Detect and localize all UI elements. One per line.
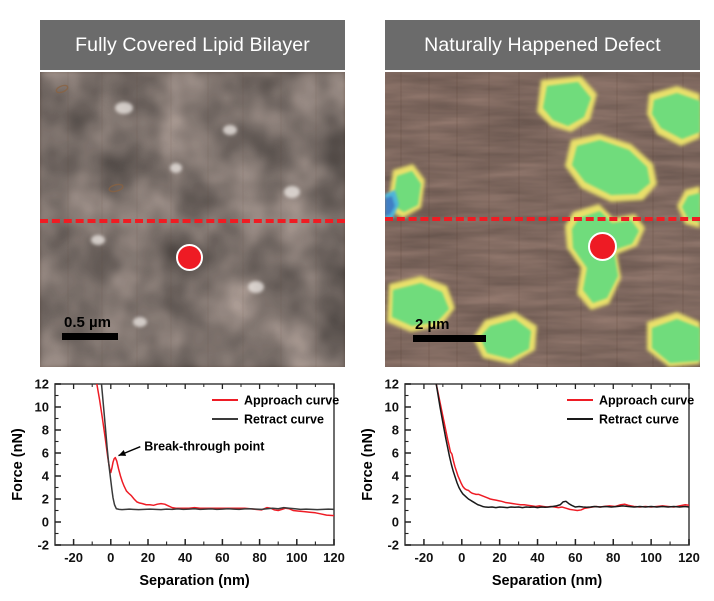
x-tick-label: 40 <box>178 550 192 565</box>
y-tick-label: 2 <box>392 492 399 507</box>
x-axis-label: Separation (nm) <box>492 573 603 589</box>
chart-right-svg: -20020406080100120-2024681012Separation … <box>358 372 708 597</box>
legend-entry-label: Approach curve <box>599 394 694 408</box>
scale-bar-left: 0.5 µm <box>62 315 118 340</box>
legend-entry-label: Retract curve <box>599 413 679 427</box>
y-tick-label: 12 <box>385 377 399 392</box>
y-axis-label: Force (nN) <box>10 428 26 501</box>
x-tick-label: -20 <box>64 550 83 565</box>
x-axis-label: Separation (nm) <box>139 573 250 589</box>
annotation-label: Break-through point <box>144 440 265 454</box>
y-tick-label: 6 <box>42 446 49 461</box>
y-tick-label: 0 <box>42 515 49 530</box>
scale-bar-label-left: 0.5 µm <box>62 315 111 331</box>
x-tick-label: 100 <box>286 550 308 565</box>
figure-root: Fully Covered Lipid Bilayer Naturally Ha… <box>0 0 714 601</box>
cross-section-line-right <box>385 217 700 221</box>
y-axis-label: Force (nN) <box>360 428 376 501</box>
legend-entry-label: Approach curve <box>244 394 339 408</box>
y-tick-label: 12 <box>35 377 49 392</box>
afm-image-natural-defect: 2 µm <box>385 72 700 367</box>
x-tick-label: 120 <box>678 550 700 565</box>
panel-title-right-text: Naturally Happened Defect <box>424 34 661 57</box>
cross-section-line-left <box>40 219 345 223</box>
measurement-point-marker-right <box>588 232 617 261</box>
x-tick-label: 20 <box>492 550 506 565</box>
y-tick-label: 4 <box>42 469 50 484</box>
scale-bar-right: 2 µm <box>413 317 486 342</box>
y-tick-label: 6 <box>392 446 399 461</box>
x-tick-label: 120 <box>323 550 345 565</box>
x-tick-label: 80 <box>606 550 620 565</box>
scale-bar-label-right: 2 µm <box>413 317 450 333</box>
scale-bar-line-right <box>413 335 486 342</box>
scale-bar-line-left <box>62 333 118 340</box>
x-tick-label: 80 <box>252 550 266 565</box>
y-tick-label: -2 <box>387 538 399 553</box>
x-tick-label: 60 <box>568 550 582 565</box>
panel-title-left-text: Fully Covered Lipid Bilayer <box>75 34 310 57</box>
force-curve-chart-right: -20020406080100120-2024681012Separation … <box>358 372 708 597</box>
afm-image-fully-covered: 0.5 µm <box>40 72 345 367</box>
y-tick-label: 2 <box>42 492 49 507</box>
legend-entry-label: Retract curve <box>244 413 324 427</box>
x-tick-label: -20 <box>415 550 434 565</box>
panel-title-right: Naturally Happened Defect <box>385 20 700 70</box>
x-tick-label: 0 <box>107 550 114 565</box>
y-tick-label: -2 <box>37 538 49 553</box>
y-tick-label: 0 <box>392 515 399 530</box>
x-tick-label: 40 <box>530 550 544 565</box>
x-tick-label: 20 <box>141 550 155 565</box>
measurement-point-marker-left <box>176 244 203 271</box>
x-tick-label: 0 <box>458 550 465 565</box>
y-tick-label: 10 <box>35 400 49 415</box>
panel-title-left: Fully Covered Lipid Bilayer <box>40 20 345 70</box>
y-tick-label: 4 <box>392 469 400 484</box>
y-tick-label: 8 <box>42 423 49 438</box>
x-tick-label: 100 <box>640 550 662 565</box>
y-tick-label: 10 <box>385 400 399 415</box>
x-tick-label: 60 <box>215 550 229 565</box>
chart-left-svg: -20020406080100120-2024681012Separation … <box>8 372 353 597</box>
force-curve-chart-left: -20020406080100120-2024681012Separation … <box>8 372 353 597</box>
y-tick-label: 8 <box>392 423 399 438</box>
